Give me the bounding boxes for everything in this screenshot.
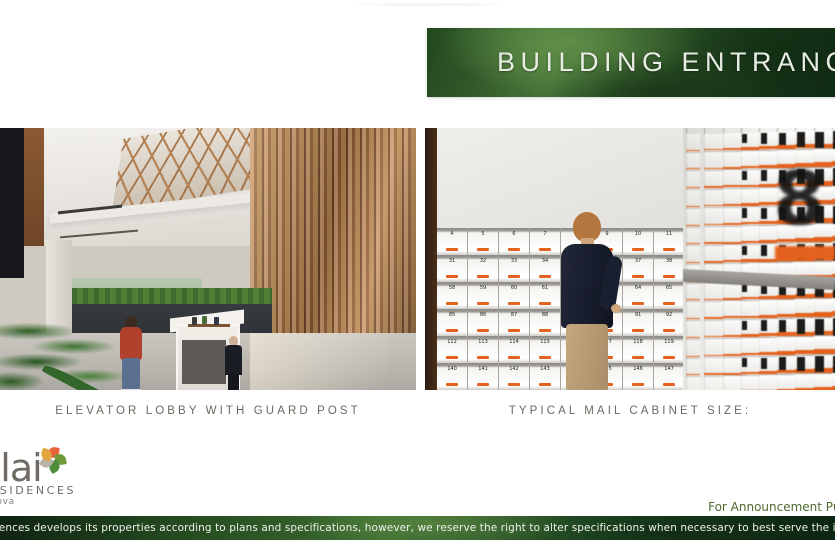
- logo-subtitle: RESIDENCES: [0, 484, 76, 497]
- mail-cabinet-box: 5: [468, 228, 499, 255]
- perspective-cabinet-lock: [761, 320, 767, 331]
- mail-cabinet-number: 4: [450, 231, 453, 237]
- mail-cabinet-handle: [632, 275, 644, 278]
- perspective-cabinet-handle: [686, 318, 700, 319]
- lobby-dark-left-edge: [0, 128, 24, 278]
- mail-cabinet-handle: [663, 356, 675, 359]
- mail-cabinet-box: 34: [530, 255, 561, 282]
- perspective-cabinet-lock: [742, 358, 747, 367]
- mail-cabinet-number: 113: [478, 339, 488, 345]
- large-cabinet-number: 8: [774, 156, 824, 242]
- top-decorative-rule: [350, 3, 510, 6]
- mail-cabinet-handle: [508, 275, 520, 278]
- mail-cabinet-box: 112: [437, 336, 468, 363]
- mail-cabinet-number: 86: [480, 312, 486, 318]
- perspective-cabinet-lock: [742, 246, 747, 255]
- announcement-note: For Announcement Purp: [708, 500, 835, 514]
- mail-cabinet-handle: [632, 302, 644, 305]
- mailroom-dark-left-edge: [425, 128, 437, 390]
- mail-cabinet-handle: [632, 329, 644, 332]
- perspective-cabinet-lock: [742, 134, 747, 143]
- perspective-cabinet-lock: [761, 170, 767, 181]
- mail-cabinet-box: 85: [437, 309, 468, 336]
- mail-cabinet-number: 31: [449, 258, 455, 264]
- mail-cabinet-handle: [477, 383, 489, 386]
- mail-cabinet-box: 32: [468, 255, 499, 282]
- mail-cabinet-handle: [539, 302, 551, 305]
- mail-cabinet-handle: [477, 275, 489, 278]
- caption-elevator-lobby: ELEVATOR LOBBY WITH GUARD POST: [0, 405, 416, 425]
- perspective-cabinet-lock: [742, 208, 747, 217]
- mail-cabinet-handle: [539, 356, 551, 359]
- lobby-hedge: [72, 288, 272, 304]
- mail-cabinet-handle: [477, 356, 489, 359]
- perspective-cabinet-handle: [704, 205, 723, 207]
- logo-wordmark: alai: [0, 449, 42, 487]
- mail-cabinet-number: 140: [447, 366, 457, 372]
- mail-cabinet-box: 86: [468, 309, 499, 336]
- mail-cabinet-box: 64: [623, 282, 654, 309]
- perspective-cabinet-handle: [704, 224, 723, 226]
- mail-cabinet-box: 147: [654, 363, 685, 390]
- perspective-cabinet-handle: [686, 187, 700, 188]
- mail-cabinet-number: 147: [664, 366, 674, 372]
- mail-cabinet-box: 115: [530, 336, 561, 363]
- mail-cabinet-box: 113: [468, 336, 499, 363]
- mail-cabinet-handle: [508, 356, 520, 359]
- guard-person: [225, 336, 242, 390]
- perspective-mail-cabinet: [686, 377, 700, 390]
- mail-cabinet-handle: [446, 383, 458, 386]
- perspective-cabinet-handle: [704, 355, 723, 357]
- perspective-cabinet-lock: [761, 358, 767, 369]
- perspective-mail-cabinet: [704, 377, 723, 390]
- mail-cabinet-box: 92: [654, 309, 685, 336]
- mail-cabinet-box: 31: [437, 255, 468, 282]
- brand-logo: alai RESIDENCES ordova: [0, 449, 108, 507]
- disclaimer-bar: dences develops its properties according…: [0, 516, 835, 540]
- mail-cabinet-box: 10: [623, 228, 654, 255]
- mail-cabinet-box: 37: [623, 255, 654, 282]
- mail-cabinet-handle: [508, 329, 520, 332]
- mail-cabinet-handle: [663, 329, 675, 332]
- mail-cabinet-number: 85: [449, 312, 455, 318]
- mail-cabinet-box: 87: [499, 309, 530, 336]
- mail-cabinet-handle: [632, 383, 644, 386]
- perspective-cabinet-handle: [704, 336, 723, 338]
- logo-location: ordova: [0, 497, 15, 507]
- mail-cabinet-box: 118: [623, 336, 654, 363]
- mail-cabinet-perspective-wall: 8: [683, 128, 835, 390]
- mail-cabinet-number: 10: [635, 231, 641, 237]
- mail-cabinet-number: 34: [542, 258, 548, 264]
- mail-cabinet-number: 33: [511, 258, 517, 264]
- disclaimer-text: dences develops its properties according…: [0, 522, 835, 534]
- mail-cabinet-handle: [663, 302, 675, 305]
- perspective-cabinet-handle: [704, 168, 723, 170]
- perspective-cabinet-lock: [797, 357, 805, 372]
- mail-cabinet-handle: [632, 248, 644, 251]
- perspective-cabinet-lock: [815, 132, 824, 148]
- mail-cabinet-number: 64: [635, 285, 641, 291]
- perspective-cabinet-lock: [815, 356, 824, 372]
- perspective-cabinet-lock: [797, 132, 805, 147]
- mailroom-person: [561, 212, 613, 390]
- render-image-elevator-lobby: [0, 128, 416, 390]
- mail-cabinet-handle: [446, 275, 458, 278]
- mail-cabinet-box: 143: [530, 363, 561, 390]
- mail-cabinet-box: 59: [468, 282, 499, 309]
- mail-cabinet-number: 5: [481, 231, 484, 237]
- perspective-cabinet-handle: [704, 261, 723, 263]
- flower-icon: [40, 447, 66, 473]
- perspective-cabinet-handle: [686, 168, 700, 169]
- mail-cabinet-box: 119: [654, 336, 685, 363]
- perspective-cabinet-handle: [686, 299, 700, 300]
- mail-cabinet-box: 60: [499, 282, 530, 309]
- perspective-cabinet-handle: [686, 225, 700, 226]
- perspective-cabinet-lock: [779, 357, 786, 370]
- mail-cabinet-box: 58: [437, 282, 468, 309]
- mail-cabinet-box: 4: [437, 228, 468, 255]
- mail-cabinet-box: 91: [623, 309, 654, 336]
- mail-cabinet-handle: [477, 329, 489, 332]
- perspective-cabinet-handle: [686, 150, 700, 151]
- perspective-cabinet-handle: [686, 262, 700, 263]
- lobby-floor-reflection: [250, 333, 390, 390]
- mail-cabinet-number: 91: [635, 312, 641, 318]
- guard-uniform: [225, 345, 242, 375]
- perspective-cabinet-lock: [815, 319, 824, 335]
- perspective-cabinet-lock: [761, 133, 767, 144]
- mail-cabinet-handle: [539, 383, 551, 386]
- perspective-cabinet-handle: [704, 149, 723, 151]
- mail-cabinet-number: 60: [511, 285, 517, 291]
- mail-cabinet-number: 37: [635, 258, 641, 264]
- perspective-cabinet-lock: [742, 171, 747, 180]
- mail-cabinet-handle: [446, 248, 458, 251]
- shelf-item: [214, 317, 219, 325]
- guard-post-opening: [182, 340, 226, 384]
- mail-cabinet-number: 38: [666, 258, 672, 264]
- perspective-cabinet-lock: [761, 208, 767, 219]
- mail-cabinet-box: 33: [499, 255, 530, 282]
- caption-mail-cabinet: TYPICAL MAIL CABINET SIZE:: [425, 405, 835, 425]
- perspective-cabinet-handle: [686, 356, 700, 357]
- mail-cabinet-handle: [508, 302, 520, 305]
- perspective-cabinet-handle: [686, 206, 700, 207]
- mail-cabinet-number: 141: [478, 366, 488, 372]
- mail-cabinet-number: 92: [666, 312, 672, 318]
- mail-cabinet-number: 143: [540, 366, 550, 372]
- mailroom-person-pants: [566, 324, 608, 390]
- mail-cabinet-box: 11: [654, 228, 685, 255]
- mail-cabinet-number: 119: [664, 339, 674, 345]
- mail-cabinet-handle: [477, 302, 489, 305]
- page-title: BUILDING ENTRANCE: [497, 28, 835, 97]
- mail-cabinet-box: 7: [530, 228, 561, 255]
- mail-cabinet-number: 59: [480, 285, 486, 291]
- mail-cabinet-box: 141: [468, 363, 499, 390]
- perspective-cabinet-handle: [704, 373, 723, 375]
- perspective-cabinet-handle: [704, 242, 723, 244]
- mail-cabinet-handle: [663, 275, 675, 278]
- mail-cabinet-box: 61: [530, 282, 561, 309]
- mail-cabinet-handle: [632, 356, 644, 359]
- mail-cabinet-number: 112: [447, 339, 457, 345]
- mailroom-person-hand: [611, 304, 621, 313]
- perspective-cabinet-handle: [686, 374, 700, 375]
- mail-cabinet-handle: [477, 248, 489, 251]
- mail-cabinet-number: 6: [512, 231, 515, 237]
- mail-cabinet-number: 114: [509, 339, 519, 345]
- mail-cabinet-box: 65: [654, 282, 685, 309]
- mail-cabinet-number: 88: [542, 312, 548, 318]
- perspective-cabinet-lock: [797, 319, 805, 334]
- mail-cabinet-box: 88: [530, 309, 561, 336]
- mail-cabinet-number: 11: [666, 231, 672, 237]
- perspective-cabinet-lock: [742, 321, 747, 330]
- perspective-cabinet-handle: [704, 186, 723, 188]
- mail-cabinet-handle: [508, 383, 520, 386]
- perspective-cabinet-lock: [779, 133, 786, 146]
- title-banner: BUILDING ENTRANCE: [427, 28, 835, 97]
- shelf-item: [202, 316, 207, 324]
- perspective-cabinet-handle: [704, 299, 723, 301]
- shelf-item: [192, 317, 197, 325]
- mail-cabinet-handle: [446, 356, 458, 359]
- mail-cabinet-number: 65: [666, 285, 672, 291]
- perspective-cabinet-lock: [761, 245, 767, 256]
- mail-cabinet-handle: [663, 383, 675, 386]
- mail-cabinet-handle: [508, 248, 520, 251]
- mail-cabinet-box: 142: [499, 363, 530, 390]
- render-image-mail-cabinet: 4567891011 3132333435363738 585960616263…: [425, 128, 835, 390]
- mail-cabinet-handle: [446, 302, 458, 305]
- mail-cabinet-box: 114: [499, 336, 530, 363]
- mail-cabinet-number: 7: [543, 231, 546, 237]
- mail-cabinet-handle: [663, 248, 675, 251]
- mail-cabinet-box: 140: [437, 363, 468, 390]
- mail-cabinet-handle: [446, 329, 458, 332]
- mail-cabinet-box: 6: [499, 228, 530, 255]
- mail-cabinet-handle: [539, 248, 551, 251]
- mail-cabinet-handle: [539, 329, 551, 332]
- lobby-left-wood-panel: [24, 128, 44, 246]
- perspective-cabinet-handle: [686, 337, 700, 338]
- mail-cabinet-number: 58: [449, 285, 455, 291]
- mail-cabinet-number: 87: [511, 312, 517, 318]
- mail-cabinet-number: 142: [509, 366, 519, 372]
- mail-cabinet-number: 118: [633, 339, 643, 345]
- large-cabinet-handle: [775, 246, 835, 260]
- perspective-cabinet-lock: [779, 320, 786, 333]
- mail-cabinet-box: 38: [654, 255, 685, 282]
- mail-cabinet-number: 146: [633, 366, 643, 372]
- mail-cabinet-handle: [539, 275, 551, 278]
- mail-cabinet-number: 32: [480, 258, 486, 264]
- mail-cabinet-box: 146: [623, 363, 654, 390]
- mail-cabinet-number: 115: [540, 339, 550, 345]
- perspective-cabinet-handle: [686, 243, 700, 244]
- mail-cabinet-number: 61: [542, 285, 548, 291]
- guard-legs: [228, 374, 239, 390]
- perspective-cabinet-handle: [704, 317, 723, 319]
